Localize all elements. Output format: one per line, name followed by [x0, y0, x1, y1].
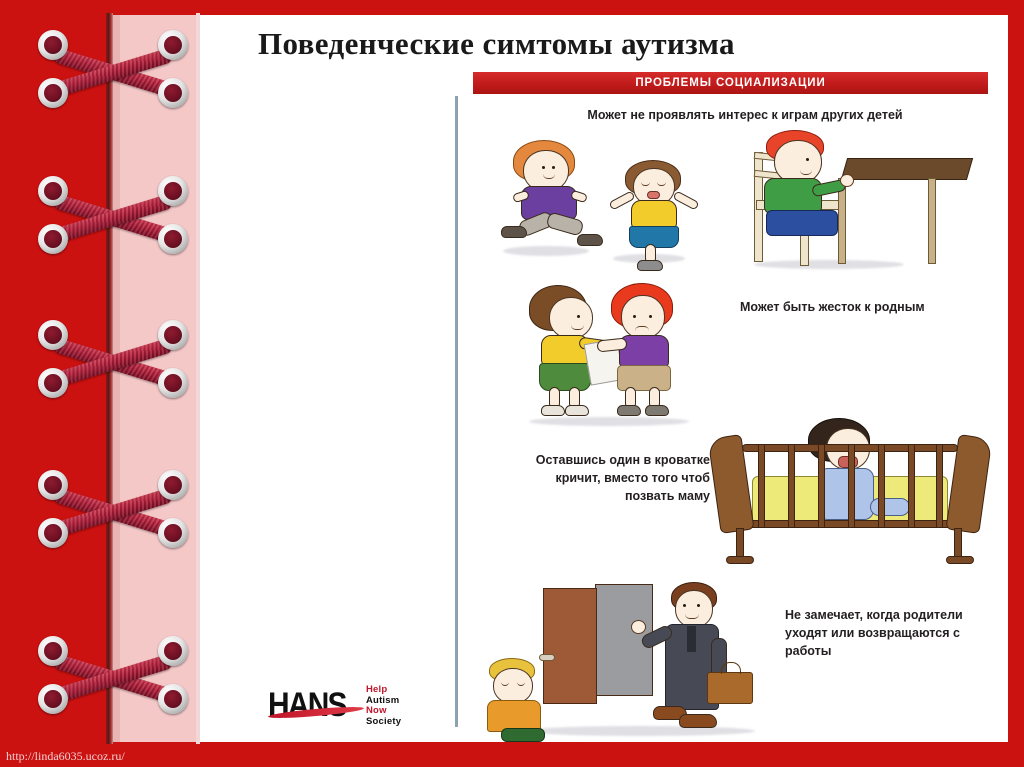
briefcase-handle	[721, 662, 741, 674]
eye	[542, 166, 545, 169]
shoe	[679, 714, 717, 728]
pants	[766, 210, 838, 236]
crib-bar	[848, 444, 855, 528]
shoe	[617, 405, 641, 416]
crib-foot	[726, 556, 754, 564]
lace-cross-2	[38, 176, 188, 254]
grommet-icon	[38, 30, 68, 60]
shorts	[617, 365, 671, 391]
illustration-kids-fighting	[515, 281, 715, 426]
head	[675, 590, 713, 628]
crib-bar	[878, 444, 885, 528]
illustration-father-leaving	[485, 576, 795, 741]
shoe	[565, 405, 589, 416]
torso	[764, 178, 822, 214]
torso	[619, 335, 669, 369]
eye	[649, 315, 652, 318]
illustration-child-in-crib	[700, 416, 1000, 566]
crib-bar	[936, 444, 943, 528]
grommet-icon	[38, 224, 68, 254]
desk-leg	[928, 178, 936, 264]
grommet-icon	[38, 470, 68, 500]
page-title: Поведенческие симтомы аутизма	[258, 26, 958, 62]
eye	[683, 604, 686, 607]
mouth	[635, 326, 649, 331]
grommet-icon	[38, 176, 68, 206]
head	[493, 668, 533, 704]
status-bar-url[interactable]: http://linda6035.ucoz.ru/	[6, 749, 125, 764]
lace-cross-3	[38, 320, 188, 398]
grommet-icon	[158, 30, 188, 60]
hans-tagline: Help Autism Now Society	[366, 685, 401, 727]
shadow	[529, 417, 689, 426]
desk-top	[841, 158, 973, 180]
grommet-icon	[38, 78, 68, 108]
door-leaf	[543, 588, 597, 704]
lace-cross-1	[38, 30, 188, 108]
shoe	[501, 226, 527, 238]
shadow	[503, 246, 589, 256]
crib-bar	[758, 444, 765, 528]
grommet-icon	[158, 684, 188, 714]
hans-tagline-now: Now	[366, 706, 401, 717]
hans-tagline-help: Help	[366, 685, 401, 696]
leg	[870, 498, 910, 516]
eye	[577, 315, 580, 318]
skirt	[539, 363, 591, 391]
crib-foot	[946, 556, 974, 564]
grommet-icon	[38, 684, 68, 714]
shoe	[637, 260, 663, 271]
grommet-icon	[38, 518, 68, 548]
head	[621, 295, 665, 339]
door-handle	[539, 654, 555, 661]
grommet-icon	[38, 368, 68, 398]
grommet-icon	[158, 320, 188, 350]
section-banner: ПРОБЛЕМЫ СОЦИАЛИЗАЦИИ	[473, 72, 988, 94]
grommet-icon	[38, 320, 68, 350]
eye	[806, 158, 809, 161]
shoe	[645, 405, 669, 416]
infographic: ПРОБЛЕМЫ СОЦИАЛИЗАЦИИ Может не проявлять…	[455, 66, 1000, 727]
caption-socialization: Может не проявлять интерес к играм други…	[495, 106, 995, 124]
crib-bar	[818, 444, 825, 528]
pyjamas	[818, 468, 874, 520]
leg	[545, 211, 584, 236]
eye	[552, 166, 555, 169]
illustration-boy-at-desk	[740, 128, 990, 276]
grommet-icon	[158, 78, 188, 108]
grommet-icon	[158, 368, 188, 398]
hand	[631, 620, 646, 634]
grommet-icon	[158, 636, 188, 666]
caption-crib: Оставшись один в кроватке кричит, вместо…	[520, 451, 710, 505]
crib-bar	[788, 444, 795, 528]
hans-tagline-society: Society	[366, 717, 401, 728]
lace-cross-5	[38, 636, 188, 714]
illustration-kids-playing	[485, 134, 730, 269]
shadow	[754, 260, 904, 269]
hand	[840, 174, 854, 187]
hans-wordmark: HANS	[268, 686, 346, 725]
shoe	[577, 234, 603, 246]
caption-parents: Не замечает, когда родители уходят или в…	[785, 606, 990, 660]
shoe	[541, 405, 565, 416]
necktie	[687, 626, 696, 652]
grommet-icon	[38, 636, 68, 666]
grommet-icon	[158, 176, 188, 206]
mouth	[647, 191, 660, 199]
grommet-icon	[158, 224, 188, 254]
hans-logo: HANS Help Autism Now Society	[268, 684, 433, 732]
eye	[697, 604, 700, 607]
grommet-icon	[158, 518, 188, 548]
pants	[501, 728, 545, 742]
eye	[633, 315, 636, 318]
grommet-icon	[158, 470, 188, 500]
briefcase	[707, 672, 753, 704]
shadow	[525, 726, 755, 736]
lace-cross-4	[38, 470, 188, 548]
crib-bar	[908, 444, 915, 528]
head	[549, 297, 593, 339]
caption-cruelty: Может быть жесток к родным	[740, 298, 930, 316]
slide-frame: Поведенческие симтомы аутизма ПРОБЛЕМЫ С…	[0, 0, 1024, 767]
